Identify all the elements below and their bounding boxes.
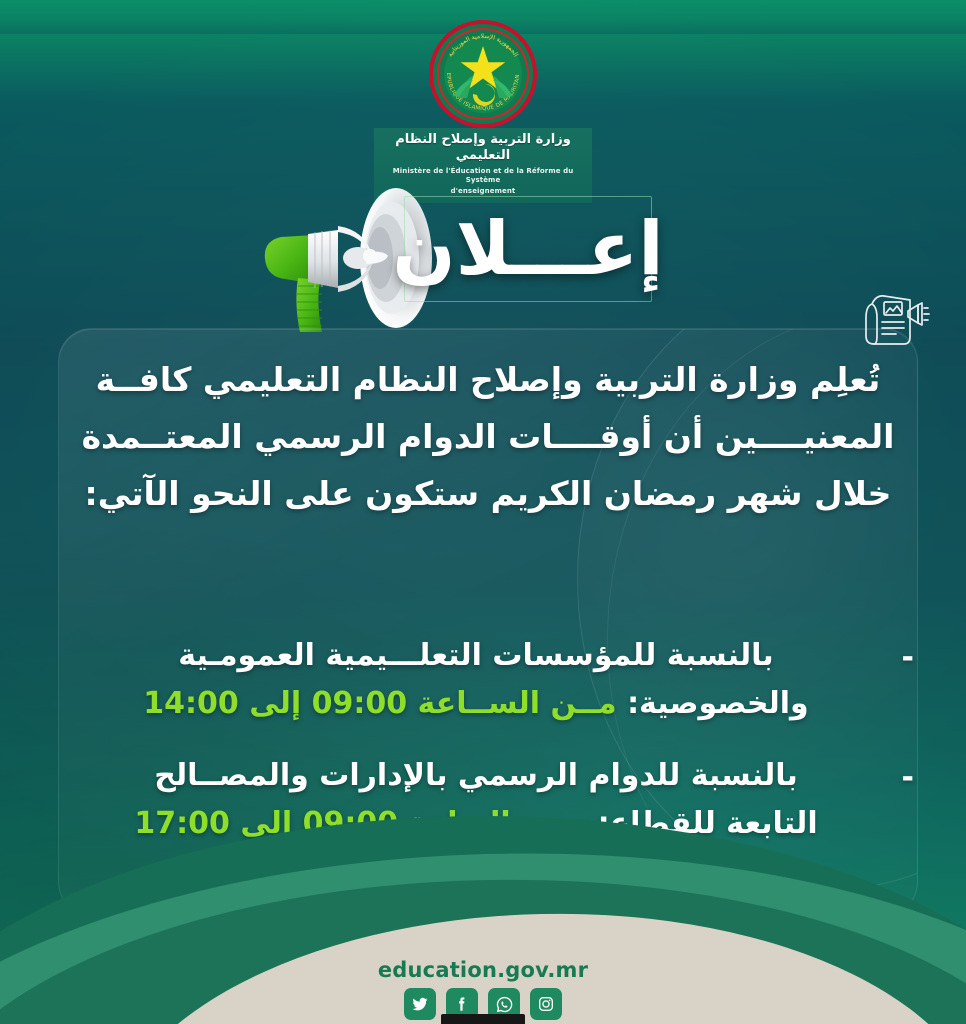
bottom-marker [441,1014,525,1024]
footer: education.gov.mr [0,958,966,1020]
newspaper-announcement-icon [858,288,930,350]
body-line-1: تُعلِم وزارة التربية وإصلاح النظام التعل… [60,352,916,409]
announcement-poster: الجمهورية الإسلامية الموريتانية REPUBLIQ… [0,0,966,1024]
page-title: إعـــلان [404,196,652,302]
ministry-name-arabic: وزارة التربية وإصلاح النظام التعليمي [380,132,586,165]
instagram-icon[interactable] [530,988,562,1020]
mauritania-seal-icon: الجمهورية الإسلامية الموريتانية REPUBLIQ… [429,20,537,128]
announcement-body: تُعلِم وزارة التربية وإصلاح النظام التعل… [60,352,916,522]
body-line-2: المعنيــــين أن أوقــــات الدوام الرسمي … [60,409,916,466]
bullet-1-line-2-prefix: والخصوصية: [627,686,809,721]
website-url[interactable]: education.gov.mr [0,958,966,982]
bullet-1-line-1: بالنسبة للمؤسسات التعلـــيمية العمومـية [178,638,773,673]
body-line-3: خلال شهر رمضان الكريم ستكون على النحو ال… [60,466,916,523]
bullet-marker: - [902,754,914,802]
national-emblem: الجمهورية الإسلامية الموريتانية REPUBLIQ… [429,20,537,128]
bullet-1-hours: مــن الســاعة 09:00 إلى 14:00 [143,686,616,721]
bullet-marker: - [902,634,914,682]
twitter-icon[interactable] [404,988,436,1020]
list-item: - بالنسبة للمؤسسات التعلـــيمية العمومـي… [60,632,916,728]
bullet-2-line-1: بالنسبة للدوام الرسمي بالإدارات والمصــا… [154,758,798,793]
